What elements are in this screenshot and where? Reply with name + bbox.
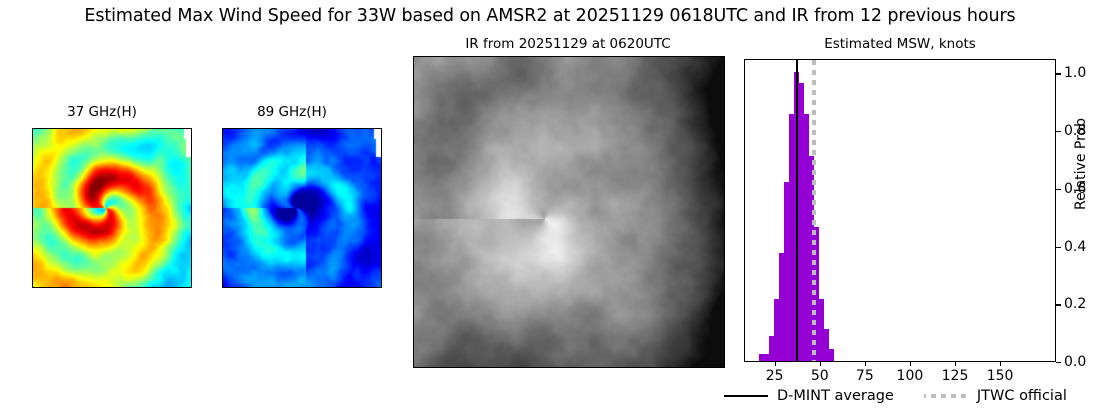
histogram-plot-area: [745, 60, 1055, 361]
panel-title-89ghz: 89 GHz(H): [217, 104, 367, 120]
x-axis-tick: [775, 362, 776, 366]
y-axis-tick: [1056, 304, 1061, 305]
y-axis-tick: [1056, 73, 1061, 74]
microwave-image-89ghz: [222, 128, 382, 288]
y-axis-tick-label: 1.0: [1064, 65, 1086, 81]
legend-label-jtwc: JTWC official: [977, 388, 1067, 404]
x-axis-tick-label: 150: [987, 368, 1014, 384]
x-axis-tick: [820, 362, 821, 366]
y-axis-label: Relative Prob: [1073, 118, 1089, 210]
legend-item-jtwc: JTWC official: [924, 388, 1067, 404]
legend-label-dmint: D-MINT average: [777, 388, 894, 404]
infrared-image: [413, 56, 725, 368]
y-axis-tick: [1056, 247, 1061, 248]
y-axis-tick: [1056, 362, 1061, 363]
y-axis-tick-label: 0.0: [1064, 354, 1086, 370]
histogram-bar: [829, 349, 834, 361]
y-axis-tick-label: 0.2: [1064, 296, 1086, 312]
y-axis-tick: [1056, 189, 1061, 190]
x-axis-tick: [865, 362, 866, 366]
microwave-image-37ghz: [32, 128, 192, 288]
x-axis-tick-label: 125: [942, 368, 969, 384]
legend-line-solid-icon: [724, 395, 768, 397]
x-axis-tick-label: 50: [811, 368, 829, 384]
x-axis-tick: [1000, 362, 1001, 366]
dmint-average-line: [796, 60, 798, 361]
x-axis-tick-label: 25: [766, 368, 784, 384]
jtwc-official-line: [812, 60, 816, 361]
histogram-title: Estimated MSW, knots: [744, 36, 1056, 52]
x-axis-tick: [955, 362, 956, 366]
legend-item-dmint: D-MINT average: [724, 388, 894, 404]
x-axis-tick-label: 75: [856, 368, 874, 384]
histogram-axes: [744, 59, 1056, 362]
x-axis-tick: [910, 362, 911, 366]
x-axis-tick-label: 100: [897, 368, 924, 384]
panel-title-ir: IR from 20251129 at 0620UTC: [412, 36, 724, 52]
y-axis-tick-label: 0.4: [1064, 239, 1086, 255]
chart-legend: D-MINT average JTWC official: [724, 386, 1096, 406]
panel-title-37ghz: 37 GHz(H): [27, 104, 177, 120]
y-axis-tick: [1056, 131, 1061, 132]
legend-line-dotted-icon: [924, 394, 968, 398]
figure-suptitle: Estimated Max Wind Speed for 33W based o…: [0, 6, 1100, 26]
